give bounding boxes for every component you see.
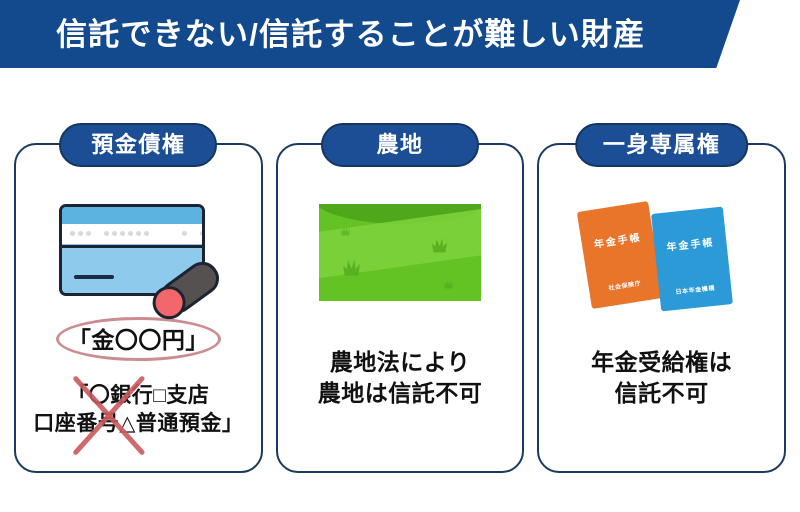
card-text-deposit-claims: 「金〇〇円」 「〇銀行□支店 口座番号△普通預金」	[16, 323, 261, 438]
card-deposit-claims: 預金債権	[14, 143, 263, 473]
card-text-line-1: 農地法により	[278, 347, 523, 378]
card-text-line-1: 年金受給権は	[539, 347, 784, 378]
card-farmland: 農地 農地法により 農地は信託不可	[276, 143, 525, 473]
card-text-line-2: 農地は信託不可	[278, 378, 523, 409]
booklet-title: 年金手帳	[581, 227, 654, 253]
card-pill-label: 農地	[376, 134, 423, 156]
card-personal-rights: 一身専属権 年金手帳 社会保険庁 年金手帳 日本年金機構 年金受給権は 信託不可	[537, 143, 786, 473]
cards-row: 預金債権	[14, 143, 786, 473]
pension-handbook-orange: 年金手帳 社会保険庁	[576, 201, 662, 309]
card-title-pill-farmland: 農地	[321, 123, 479, 167]
grass-tuft-icon	[444, 280, 453, 289]
card-illustration-farmland	[278, 191, 523, 313]
pension-handbook-blue: 年金手帳 日本年金機構	[651, 207, 733, 312]
page-title: 信託できない/信託することが難しい財産	[0, 19, 645, 50]
pension-handbooks-icon: 年金手帳 社会保険庁 年金手帳 日本年金機構	[578, 198, 746, 306]
card-text-farmland: 農地法により 農地は信託不可	[278, 347, 523, 409]
header-banner: 信託できない/信託することが難しい財産	[0, 0, 740, 68]
card-pill-label: 一身専属権	[603, 134, 721, 156]
card-text-line-2: 信託不可	[539, 378, 784, 409]
booklet-subtitle: 社会保険庁	[588, 275, 661, 295]
bankbook-signature-line	[74, 275, 114, 279]
booklet-title: 年金手帳	[653, 232, 726, 254]
card-text-line-3: 口座番号△普通預金」	[16, 410, 261, 438]
card-text-line-1: 「金〇〇円」	[68, 327, 209, 353]
bankbook-icon	[59, 204, 217, 300]
bankbook-top-band	[62, 207, 202, 224]
bankbook-rule-line	[62, 245, 202, 248]
card-pill-label: 預金債権	[91, 134, 185, 156]
card-illustration-bankbook	[16, 191, 261, 313]
bankbook-dot-row	[70, 231, 205, 236]
card-text-line-2: 「〇銀行□支店	[16, 382, 261, 410]
card-text-line: 「金〇〇円」	[16, 323, 261, 358]
card-text-personal-rights: 年金受給権は 信託不可	[539, 347, 784, 409]
card-title-pill-personal-rights: 一身専属権	[575, 123, 749, 167]
farmland-field-icon	[319, 204, 481, 301]
card-illustration-pension-books: 年金手帳 社会保険庁 年金手帳 日本年金機構	[539, 191, 784, 313]
card-title-pill-deposit-claims: 預金債権	[59, 123, 217, 167]
infographic-page: 信託できない/信託することが難しい財産 預金債権	[0, 0, 800, 512]
booklet-subtitle: 日本年金機構	[659, 281, 732, 297]
